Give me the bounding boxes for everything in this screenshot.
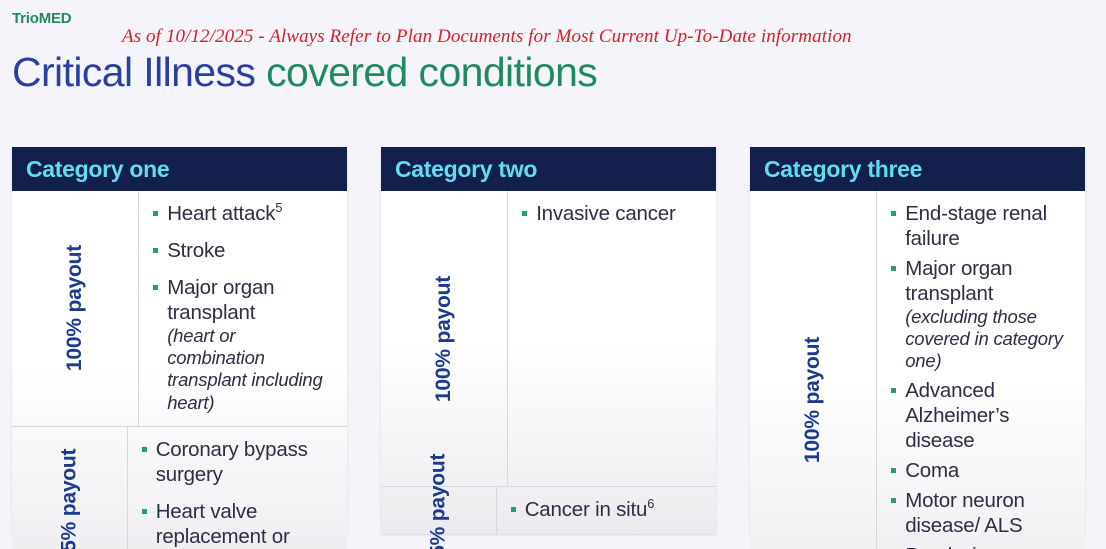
footnote-marker: 5: [275, 200, 282, 215]
condition-item: Major organ transplant(heart or combinat…: [153, 275, 337, 414]
category-card-category-three: Category three100% payoutEnd-stage renal…: [750, 147, 1085, 534]
payout-section-25-payout: 25% payoutCoronary bypass surgeryHeart v…: [12, 426, 347, 549]
condition-list: Heart attack5StrokeMajor organ transplan…: [139, 191, 347, 426]
condition-item-text: Major organ transplant(heart or combinat…: [167, 275, 337, 414]
condition-item-label: Major organ transplant: [905, 257, 1012, 305]
payout-section-25-payout: 25% payoutCancer in situ6: [381, 486, 716, 534]
bullet-icon: [511, 507, 516, 512]
payout-label-text: 100% payout: [432, 275, 456, 401]
bullet-icon: [142, 447, 147, 452]
bullet-icon: [153, 285, 158, 290]
condition-item: Cancer in situ6: [511, 497, 706, 522]
page-title-primary: Critical Illness: [12, 49, 255, 95]
condition-item-text: Coma: [905, 458, 1075, 483]
page-title-secondary: covered conditions: [266, 49, 597, 95]
bullet-icon: [891, 211, 896, 216]
condition-item: Invasive cancer: [522, 201, 706, 226]
category-cards: Category one100% payoutHeart attack5Stro…: [12, 147, 1086, 534]
payout-label-text: 25% payout: [57, 449, 81, 549]
payout-label: 100% payout: [12, 191, 139, 426]
bullet-icon: [891, 468, 896, 473]
condition-item: Coronary bypass surgery: [142, 437, 337, 487]
condition-item-label: Stroke: [167, 239, 225, 262]
payout-label: 100% payout: [750, 191, 877, 549]
category-card-body: 100% payoutEnd-stage renal failureMajor …: [750, 191, 1085, 549]
payout-label-text: 25% payout: [426, 453, 450, 549]
as-of-disclaimer: As of 10/12/2025 - Always Refer to Plan …: [122, 26, 852, 48]
category-card-title: Category one: [26, 156, 169, 183]
condition-item: Major organ transplant(excluding those c…: [891, 256, 1075, 373]
condition-item-label: Heart valve replacement or repair: [156, 500, 290, 549]
category-card-header: Category two: [381, 147, 716, 191]
condition-item: Advanced Alzheimer’s disease: [891, 378, 1075, 453]
condition-item-label: Advanced Alzheimer’s disease: [905, 379, 1009, 452]
condition-item-text: End-stage renal failure: [905, 201, 1075, 251]
category-card-header: Category three: [750, 147, 1085, 191]
condition-item-label: Motor neuron disease/ ALS: [905, 489, 1025, 537]
condition-item-text: Stroke: [167, 238, 337, 263]
condition-item: Heart attack5: [153, 201, 337, 226]
condition-item-label: Paralysis: [905, 544, 986, 549]
condition-item: Coma: [891, 458, 1075, 483]
bullet-icon: [522, 211, 527, 216]
condition-item-text: Heart attack5: [167, 201, 337, 226]
condition-item-text: Heart valve replacement or repair: [156, 499, 337, 549]
condition-item-note: (excluding those covered in category one…: [905, 306, 1075, 373]
condition-item-text: Major organ transplant(excluding those c…: [905, 256, 1075, 373]
condition-item-label: Invasive cancer: [536, 202, 675, 225]
footnote-marker: 6: [647, 496, 654, 511]
payout-label: 25% payout: [12, 427, 128, 549]
condition-item-note: (heart or combination transplant includi…: [167, 325, 337, 414]
payout-section-100-payout: 100% payoutHeart attack5StrokeMajor orga…: [12, 191, 347, 426]
category-card-header: Category one: [12, 147, 347, 191]
condition-item: Stroke: [153, 238, 337, 263]
condition-list: End-stage renal failureMajor organ trans…: [877, 191, 1085, 549]
condition-list: Coronary bypass surgeryHeart valve repla…: [128, 427, 347, 549]
payout-label-text: 100% payout: [801, 337, 825, 463]
condition-item-label: Cancer in situ: [525, 498, 648, 521]
condition-item-text: Invasive cancer: [536, 201, 706, 226]
condition-item: Heart valve replacement or repair: [142, 499, 337, 549]
condition-item: Paralysis: [891, 543, 1075, 549]
page-title: Critical Illness covered conditions: [12, 49, 597, 96]
condition-item-label: Coma: [905, 459, 959, 482]
condition-item-text: Cancer in situ6: [525, 497, 706, 522]
payout-section-100-payout: 100% payoutInvasive cancer: [381, 191, 716, 486]
condition-item-text: Coronary bypass surgery: [156, 437, 337, 487]
category-card-title: Category three: [764, 156, 922, 183]
bullet-icon: [891, 498, 896, 503]
payout-label: 100% payout: [381, 191, 508, 486]
payout-label-text: 100% payout: [63, 245, 87, 371]
bullet-icon: [153, 248, 158, 253]
category-card-title: Category two: [395, 156, 537, 183]
condition-item: End-stage renal failure: [891, 201, 1075, 251]
condition-item-text: Advanced Alzheimer’s disease: [905, 378, 1075, 453]
condition-list: Invasive cancer: [508, 191, 716, 486]
condition-item-label: Heart attack: [167, 202, 275, 225]
bullet-icon: [142, 509, 147, 514]
category-card-category-two: Category two100% payoutInvasive cancer25…: [381, 147, 716, 534]
bullet-icon: [891, 266, 896, 271]
category-card-body: 100% payoutInvasive cancer25% payoutCanc…: [381, 191, 716, 534]
condition-list: Cancer in situ6: [497, 487, 716, 534]
condition-item-label: End-stage renal failure: [905, 202, 1047, 250]
payout-label: 25% payout: [381, 487, 497, 534]
condition-item: Motor neuron disease/ ALS: [891, 488, 1075, 538]
triomed-logo: TrioMED: [12, 10, 71, 27]
condition-item-label: Coronary bypass surgery: [156, 438, 308, 486]
bullet-icon: [891, 388, 896, 393]
category-card-body: 100% payoutHeart attack5StrokeMajor orga…: [12, 191, 347, 549]
condition-item-label: Major organ transplant: [167, 276, 274, 324]
bullet-icon: [153, 211, 158, 216]
payout-section-100-payout: 100% payoutEnd-stage renal failureMajor …: [750, 191, 1085, 549]
condition-item-text: Paralysis: [905, 543, 1075, 549]
condition-item-text: Motor neuron disease/ ALS: [905, 488, 1075, 538]
category-card-category-one: Category one100% payoutHeart attack5Stro…: [12, 147, 347, 534]
